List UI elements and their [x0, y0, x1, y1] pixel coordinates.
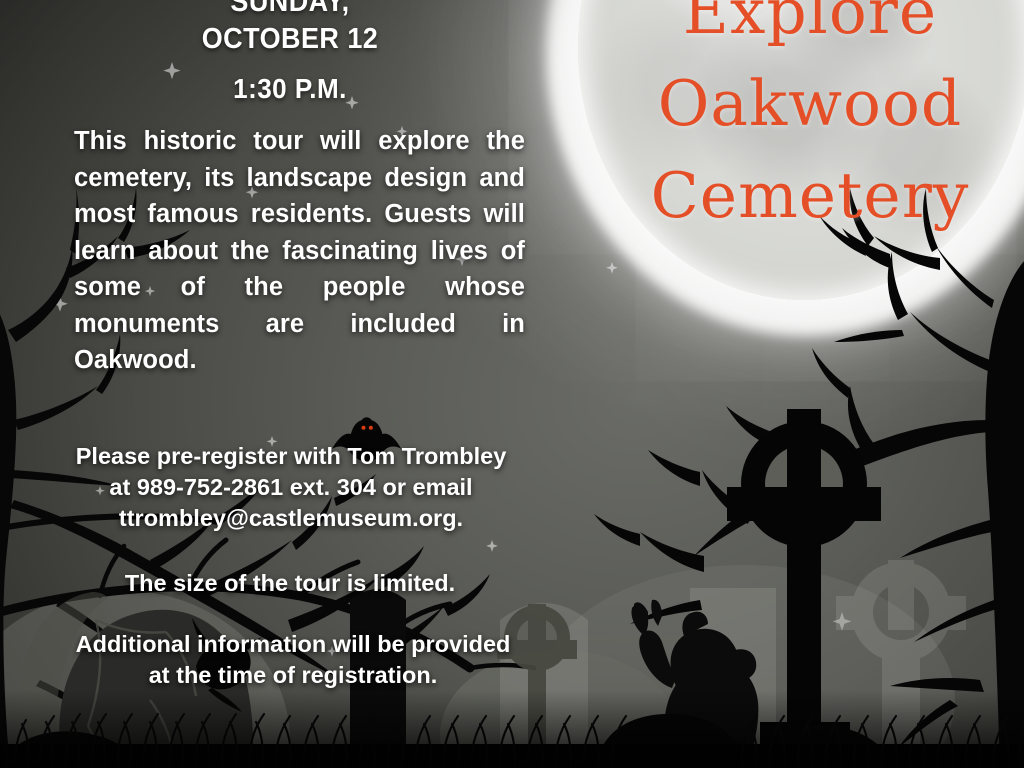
- registration-contact: Please pre-register with Tom Trombley at…: [74, 441, 528, 534]
- title-line-1: Explore: [596, 0, 1024, 58]
- poster-title: Explore Oakwood Cemetery: [596, 0, 1024, 242]
- celtic-cross-icon: [727, 409, 881, 768]
- ghost-celtic-cross-icon: [836, 560, 966, 766]
- title-line-3: Cemetery: [596, 150, 1024, 242]
- title-line-2: Oakwood: [596, 58, 1024, 150]
- tour-size-notice: The size of the tour is limited.: [74, 568, 528, 599]
- halloween-cemetery-tour-poster: Explore Oakwood Cemetery SUNDAY, OCTOBER…: [0, 0, 1024, 768]
- zombie-icon: [631, 600, 758, 768]
- description-paragraph: This historic tour will explore the ceme…: [74, 123, 528, 379]
- event-date: OCTOBER 12: [89, 21, 491, 58]
- event-day: SUNDAY,: [89, 0, 491, 21]
- additional-info-notice: Additional information will be provided …: [74, 629, 528, 691]
- poster-text-column: SUNDAY, OCTOBER 12 1:30 P.M. This histor…: [0, 0, 556, 768]
- event-date-block: SUNDAY, OCTOBER 12 1:30 P.M.: [74, 0, 528, 107]
- event-time: 1:30 P.M.: [89, 70, 491, 107]
